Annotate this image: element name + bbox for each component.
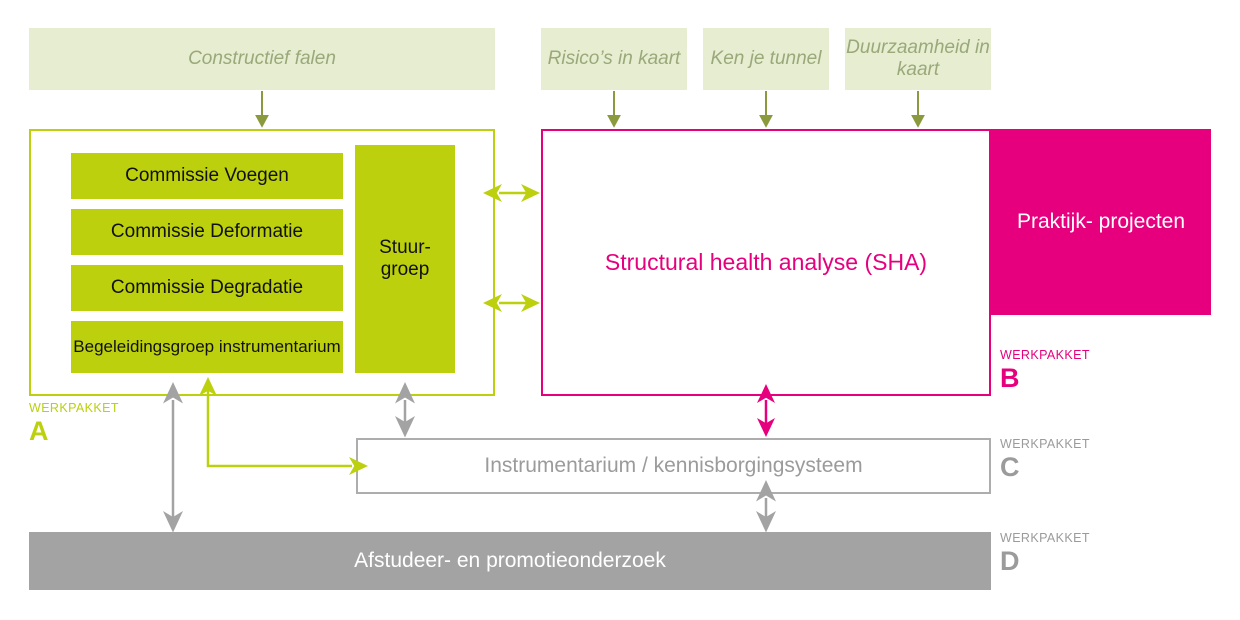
praktijkprojecten-label: Praktijk- projecten xyxy=(1017,209,1185,235)
commissie-label: Commissie Deformatie xyxy=(111,221,303,243)
instrumentarium-label: Instrumentarium / kennisborgingsysteem xyxy=(484,454,862,478)
input-box-label: Ken je tunnel xyxy=(711,48,822,70)
werkpakket-b-kicker: WERKPAKKET xyxy=(1000,349,1090,362)
werkpakket-a-tag: WERKPAKKET A xyxy=(29,402,119,445)
werkpakket-c-letter: C xyxy=(1000,454,1090,481)
input-box-label: Duurzaamheid in kaart xyxy=(845,37,991,82)
input-box-ken-je-tunnel[interactable]: Ken je tunnel xyxy=(703,28,829,90)
commissie-deformatie-box[interactable]: Commissie Deformatie xyxy=(71,209,343,255)
werkpakket-d-bar[interactable]: Afstudeer- en promotieonderzoek xyxy=(29,532,991,590)
werkpakket-d-letter: D xyxy=(1000,548,1090,575)
stuurgroep-box[interactable]: Stuur- groep xyxy=(355,145,455,373)
werkpakket-d-tag: WERKPAKKET D xyxy=(1000,532,1090,575)
input-box-label: Risico’s in kaart xyxy=(548,48,681,70)
werkpakket-a-kicker: WERKPAKKET xyxy=(29,402,119,415)
werkpakket-d-kicker: WERKPAKKET xyxy=(1000,532,1090,545)
werkpakket-c-container[interactable]: Instrumentarium / kennisborgingsysteem xyxy=(356,438,991,494)
commissie-degradatie-box[interactable]: Commissie Degradatie xyxy=(71,265,343,311)
input-box-risicos-in-kaart[interactable]: Risico’s in kaart xyxy=(541,28,687,90)
diagram-canvas: Constructief falen Risico’s in kaart Ken… xyxy=(0,0,1240,620)
werkpakket-b-tag: WERKPAKKET B xyxy=(1000,349,1090,392)
begeleidingsgroep-label: Begeleidingsgroep instrumentarium xyxy=(73,337,340,357)
sha-label: Structural health analyse (SHA) xyxy=(543,131,989,394)
praktijkprojecten-box[interactable]: Praktijk- projecten xyxy=(991,129,1211,315)
input-box-constructief-falen[interactable]: Constructief falen xyxy=(29,28,495,90)
commissie-voegen-box[interactable]: Commissie Voegen xyxy=(71,153,343,199)
input-box-duurzaamheid-in-kaart[interactable]: Duurzaamheid in kaart xyxy=(845,28,991,90)
werkpakket-b-letter: B xyxy=(1000,365,1090,392)
input-box-label: Constructief falen xyxy=(188,48,336,70)
werkpakket-b-container: Structural health analyse (SHA) xyxy=(541,129,991,396)
commissie-label: Commissie Degradatie xyxy=(111,277,303,299)
werkpakket-c-tag: WERKPAKKET C xyxy=(1000,438,1090,481)
werkpakket-a-letter: A xyxy=(29,418,119,445)
stuurgroep-label: Stuur- groep xyxy=(355,237,455,281)
werkpakket-c-kicker: WERKPAKKET xyxy=(1000,438,1090,451)
begeleidingsgroep-instrumentarium-box[interactable]: Begeleidingsgroep instrumentarium xyxy=(71,321,343,373)
afstudeeronderzoek-label: Afstudeer- en promotieonderzoek xyxy=(354,549,666,573)
commissie-label: Commissie Voegen xyxy=(125,165,289,187)
